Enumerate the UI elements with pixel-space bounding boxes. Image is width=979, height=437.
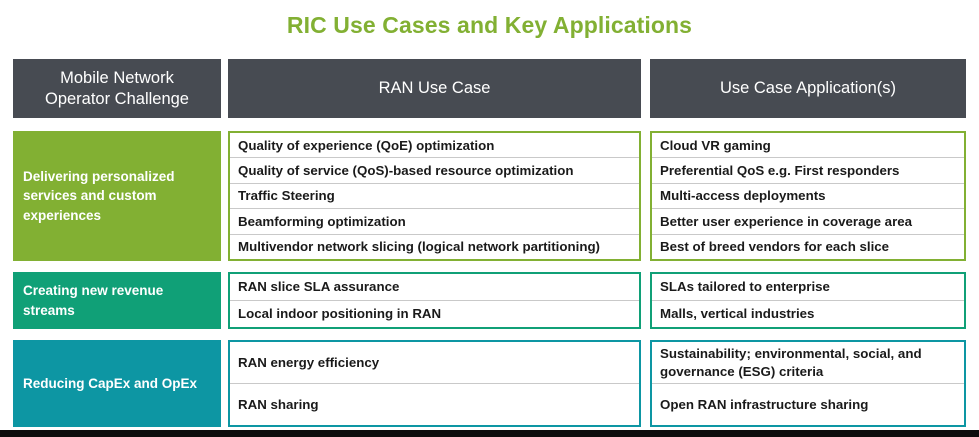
use-case-cell: Quality of experience (QoE) optimization: [230, 133, 639, 158]
application-cell: Cloud VR gaming: [652, 133, 964, 158]
use-case-cell: RAN slice SLA assurance: [230, 274, 639, 301]
application-list-group-2: SLAs tailored to enterprise Malls, verti…: [650, 272, 966, 329]
application-cell: Best of breed vendors for each slice: [652, 235, 964, 259]
use-case-cell: RAN energy efficiency: [230, 342, 639, 384]
challenge-cell-reducing-capex-and-opex: Reducing CapEx and OpEx: [13, 340, 221, 427]
use-case-list-group-1: Quality of experience (QoE) optimization…: [228, 131, 641, 261]
use-case-list-group-3: RAN energy efficiency RAN sharing: [228, 340, 641, 427]
challenge-cell-creating-new-revenue-streams: Creating new revenue streams: [13, 272, 221, 329]
application-list-group-1: Cloud VR gaming Preferential QoS e.g. Fi…: [650, 131, 966, 261]
use-case-cell: Quality of service (QoS)-based resource …: [230, 158, 639, 183]
column-header-ran-use-case: RAN Use Case: [228, 59, 641, 118]
application-cell: Preferential QoS e.g. First responders: [652, 158, 964, 183]
challenge-cell-delivering-personalized-services: Delivering personalized services and cus…: [13, 131, 221, 261]
use-case-cell: Multivendor network slicing (logical net…: [230, 235, 639, 259]
application-cell: SLAs tailored to enterprise: [652, 274, 964, 301]
bottom-divider-bar: [0, 430, 979, 437]
use-case-cell: Local indoor positioning in RAN: [230, 301, 639, 327]
application-cell: Malls, vertical industries: [652, 301, 964, 327]
ric-use-case-table: Mobile Network Operator Challenge RAN Us…: [0, 0, 979, 437]
use-case-cell: Beamforming optimization: [230, 209, 639, 234]
application-cell: Better user experience in coverage area: [652, 209, 964, 234]
column-header-mobile-network-operator-challenge: Mobile Network Operator Challenge: [13, 59, 221, 118]
application-cell: Open RAN infrastructure sharing: [652, 384, 964, 425]
use-case-cell: Traffic Steering: [230, 184, 639, 209]
column-header-use-case-applications: Use Case Application(s): [650, 59, 966, 118]
application-cell: Multi-access deployments: [652, 184, 964, 209]
use-case-list-group-2: RAN slice SLA assurance Local indoor pos…: [228, 272, 641, 329]
application-cell: Sustainability; environmental, social, a…: [652, 342, 964, 384]
application-list-group-3: Sustainability; environmental, social, a…: [650, 340, 966, 427]
use-case-cell: RAN sharing: [230, 384, 639, 425]
